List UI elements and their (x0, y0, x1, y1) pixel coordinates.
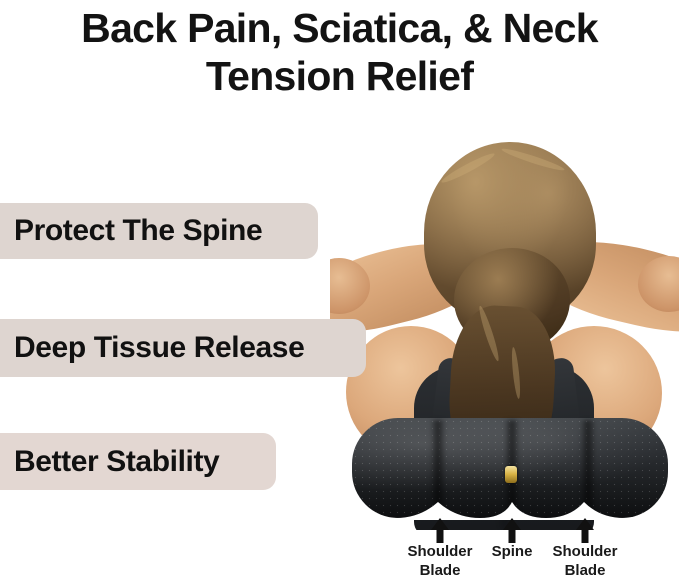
benefit-pill-protect-the-spine: Protect The Spine (0, 203, 318, 259)
benefit-label: Protect The Spine (14, 214, 262, 248)
benefit-pill-deep-tissue-release: Deep Tissue Release (0, 319, 366, 377)
page-title: Back Pain, Sciatica, & Neck Tension Reli… (0, 4, 679, 101)
benefit-label: Deep Tissue Release (14, 331, 304, 365)
callout-label-shoulder-blade-right: Shoulder Blade (537, 543, 633, 581)
benefit-label: Better Stability (14, 445, 219, 479)
benefit-pill-better-stability: Better Stability (0, 433, 276, 490)
arrow-up-icon (501, 517, 523, 543)
foam-roller (352, 418, 668, 518)
product-marketing-image: Back Pain, Sciatica, & Neck Tension Reli… (0, 0, 679, 582)
arrow-up-icon (429, 517, 451, 543)
arrow-up-icon (574, 517, 596, 543)
callout-label-spine: Spine (480, 543, 544, 562)
callout-label-shoulder-blade-left: Shoulder Blade (392, 543, 488, 581)
brand-logo-badge (505, 466, 517, 483)
